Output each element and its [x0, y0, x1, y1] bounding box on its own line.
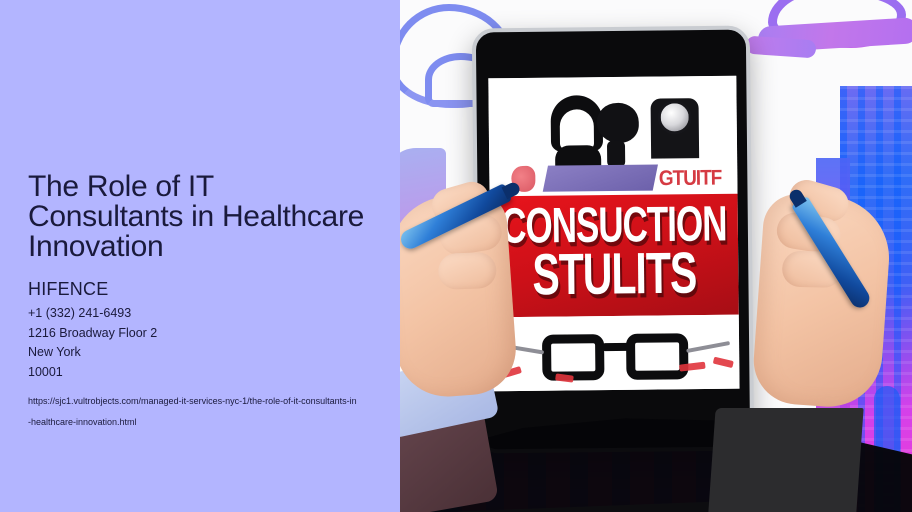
contact-phone: +1 (332) 241-6493 [28, 304, 378, 324]
article-url[interactable]: https://sjc1.vultrobjects.com/managed-it… [28, 382, 358, 433]
lens-right [626, 333, 688, 380]
contact-zip: 10001 [28, 363, 378, 383]
finger-left-3 [438, 252, 497, 290]
person-head-icon [597, 103, 639, 143]
illustration-panel: GTUITF CONSUCTION STULITS [400, 0, 912, 512]
screen-red-banner: CONSUCTION STULITS [490, 194, 739, 317]
page-title: The Role of IT Consultants in Healthcare… [28, 0, 368, 262]
screen-glasses-panel: LIB0)Thspraroia mr vurfg [491, 315, 740, 392]
person-with-mirror-icon [651, 98, 700, 158]
brand-name: HIFENCE [28, 262, 378, 300]
desk-shape [543, 165, 658, 192]
contact-city: New York [28, 343, 378, 363]
person-figure-icon [550, 95, 603, 152]
tablet-screen: GTUITF CONSUCTION STULITS [488, 76, 739, 392]
tablet-device: GTUITF CONSUCTION STULITS [472, 26, 754, 454]
article-promo-card: The Role of IT Consultants in Healthcare… [0, 0, 912, 512]
glasses-temple-right [686, 341, 730, 353]
red-accent-4 [713, 357, 734, 368]
screen-garbled-top-text: GTUITF [659, 167, 722, 192]
banner-headline-line-2: STULITS [490, 247, 739, 303]
dark-panel-shape [708, 408, 863, 512]
contact-details: +1 (332) 241-6493 1216 Broadway Floor 2 … [28, 300, 378, 382]
screen-illustration-top: GTUITF [488, 76, 737, 197]
text-panel: The Role of IT Consultants in Healthcare… [0, 0, 400, 512]
lens-left [542, 334, 604, 381]
contact-street: 1216 Broadway Floor 2 [28, 324, 378, 344]
squiggle-dash-doodle-icon [745, 36, 816, 59]
